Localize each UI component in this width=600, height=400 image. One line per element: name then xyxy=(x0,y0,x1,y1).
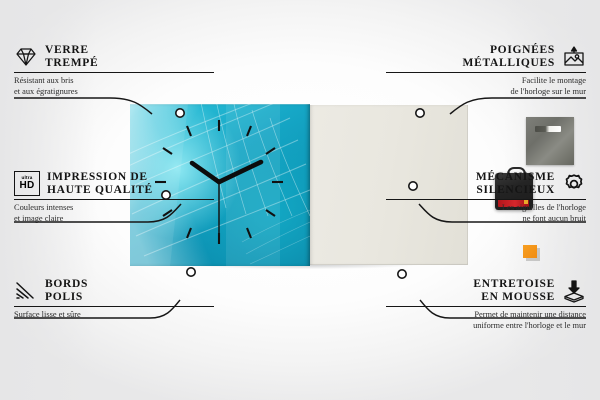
ultra-hd-badge-icon: ultra HD xyxy=(14,171,40,196)
diamond-icon xyxy=(14,45,38,69)
feature-impression-haute-qualite[interactable]: ultra HD IMPRESSION DE HAUTE QUALITÉ Cou… xyxy=(14,171,214,224)
feature-header: POIGNÉES MÉTALLIQUES xyxy=(386,44,586,69)
feature-verre-trempe[interactable]: VERRE TREMPÉ Résistant aux bris et aux é… xyxy=(14,44,214,97)
feature-title: ENTRETOISE EN MOUSSE xyxy=(473,278,555,303)
metal-hanger-plate xyxy=(526,117,574,165)
hanging-picture-icon xyxy=(562,45,586,69)
feature-description: Couleurs intenses et image claire xyxy=(14,203,214,223)
feature-entretoise-en-mousse[interactable]: ENTRETOISE EN MOUSSE Permet de maintenir… xyxy=(386,278,586,331)
title-underline xyxy=(386,72,586,73)
feature-title: BORDS POLIS xyxy=(45,278,88,303)
feature-header: ENTRETOISE EN MOUSSE xyxy=(386,278,586,303)
gear-icon xyxy=(562,172,586,196)
feature-header: BORDS POLIS xyxy=(14,278,214,303)
title-underline xyxy=(14,306,214,307)
feature-poignees-metalliques[interactable]: POIGNÉES MÉTALLIQUES Facilite le montage… xyxy=(386,44,586,97)
title-underline xyxy=(386,199,586,200)
connector-poignees xyxy=(450,98,586,114)
feature-header: ultra HD IMPRESSION DE HAUTE QUALITÉ xyxy=(14,171,214,196)
feature-title: POIGNÉES MÉTALLIQUES xyxy=(463,44,555,69)
foam-spacer-icon xyxy=(562,279,586,303)
feature-description: Permet de maintenir une distance uniform… xyxy=(386,310,586,330)
feature-title: VERRE TREMPÉ xyxy=(45,44,98,69)
feature-title: MÉCANISME SILENCIEUX xyxy=(476,171,555,196)
feature-description: Surface lisse et sûre xyxy=(14,310,214,320)
polished-edges-icon xyxy=(14,279,38,303)
feature-header: VERRE TREMPÉ xyxy=(14,44,214,69)
feature-header: MÉCANISME SILENCIEUX xyxy=(386,171,586,196)
foam-spacer-pad xyxy=(523,245,537,258)
feature-bords-polis[interactable]: BORDS POLIS Surface lisse et sûre xyxy=(14,278,214,321)
title-underline xyxy=(14,199,214,200)
title-underline xyxy=(14,72,214,73)
feature-title: IMPRESSION DE HAUTE QUALITÉ xyxy=(47,171,153,196)
feature-description: Facilite le montage de l'horloge sur le … xyxy=(386,76,586,96)
feature-description: Résistant aux bris et aux égratignures xyxy=(14,76,214,96)
feature-description: Les aiguilles de l'horloge ne font aucun… xyxy=(386,203,586,223)
clock-center-pin xyxy=(217,180,221,184)
clock-minute-hand xyxy=(219,162,261,182)
infographic-canvas: VERRE TREMPÉ Résistant aux bris et aux é… xyxy=(0,0,600,400)
title-underline xyxy=(386,306,586,307)
feature-mecanisme-silencieux[interactable]: MÉCANISME SILENCIEUX Les aiguilles de l'… xyxy=(386,171,586,224)
